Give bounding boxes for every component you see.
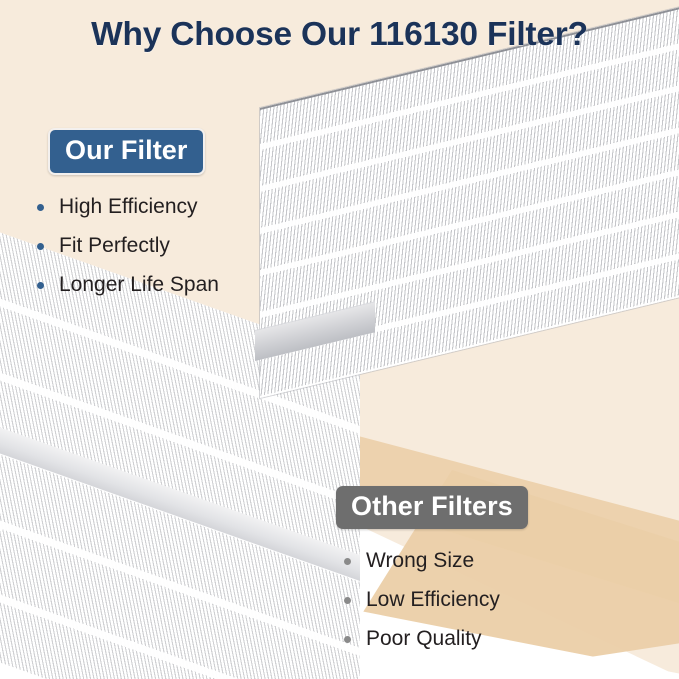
list-item-label: Poor Quality — [366, 627, 482, 650]
list-item: Wrong Size — [340, 550, 500, 571]
list-item-label: Low Efficiency — [366, 588, 500, 611]
our-filter-benefit-list: High Efficiency Fit Perfectly Longer Lif… — [33, 196, 219, 313]
page-title: Why Choose Our 116130 Filter? — [0, 16, 679, 54]
bullet-dot-icon — [344, 597, 351, 604]
list-item: High Efficiency — [33, 196, 219, 217]
other-filters-badge: Other Filters — [336, 486, 528, 529]
infographic-canvas: Why Choose Our 116130 Filter? Our Filter… — [0, 0, 679, 679]
other-filters-drawback-list: Wrong Size Low Efficiency Poor Quality — [340, 550, 500, 667]
bullet-dot-icon — [37, 282, 44, 289]
list-item: Fit Perfectly — [33, 235, 219, 256]
our-filter-badge: Our Filter — [48, 128, 205, 175]
bullet-dot-icon — [37, 204, 44, 211]
list-item: Longer Life Span — [33, 274, 219, 295]
bullet-dot-icon — [344, 636, 351, 643]
list-item-label: High Efficiency — [59, 195, 198, 218]
bullet-dot-icon — [37, 243, 44, 250]
list-item-label: Fit Perfectly — [59, 234, 170, 257]
list-item: Poor Quality — [340, 628, 500, 649]
list-item: Low Efficiency — [340, 589, 500, 610]
bullet-dot-icon — [344, 558, 351, 565]
list-item-label: Longer Life Span — [59, 273, 219, 296]
list-item-label: Wrong Size — [366, 549, 474, 572]
